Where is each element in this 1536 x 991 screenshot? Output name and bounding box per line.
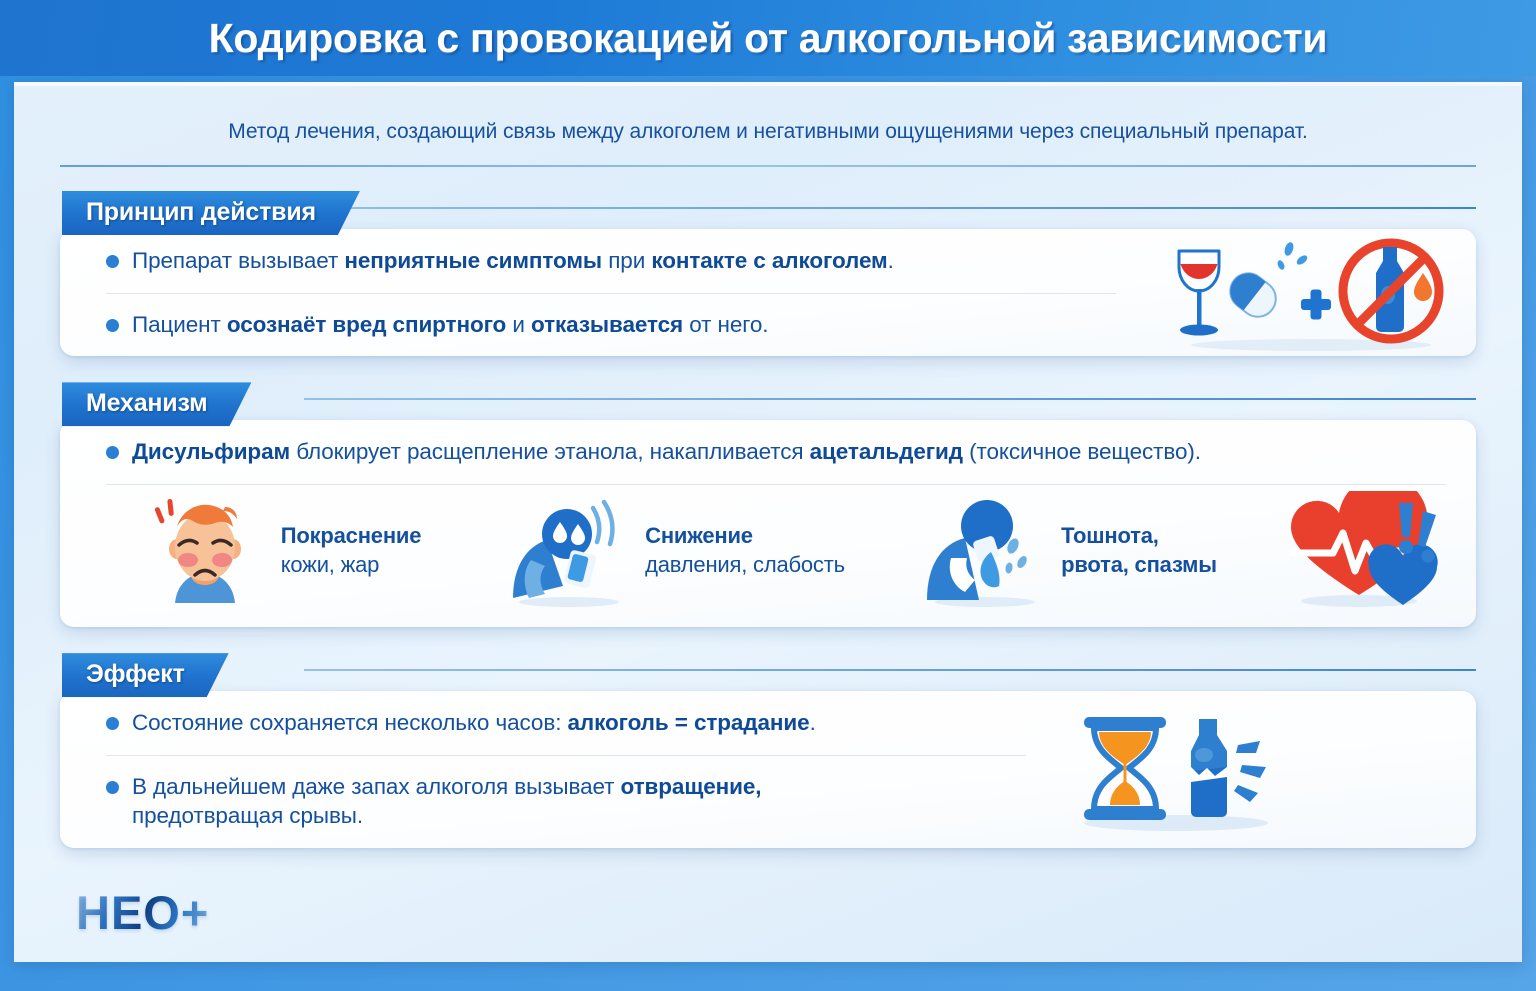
bullet-dot-icon <box>106 446 119 459</box>
text-run: (токсичное вещество). <box>963 439 1201 464</box>
symptom-item: Тошнота, рвота, спазмы <box>874 492 1264 610</box>
list-item: Пациент осознаёт вред спиртного и отказы… <box>60 293 1146 357</box>
symptom-list: Покраснение кожи, жар <box>60 485 1476 627</box>
text-run-bold: ацетальдегид <box>810 439 963 464</box>
bullet-dot-icon <box>106 717 119 730</box>
section-card-effect: Состояние сохраняется несколько часов: а… <box>60 691 1476 848</box>
symptom-item: Снижение давления, слабость <box>480 492 870 610</box>
text-run: Препарат вызывает <box>132 248 344 273</box>
effect-bullet-list: Состояние сохраняется несколько часов: а… <box>60 691 1056 848</box>
symptom-line-2: кожи, жар <box>281 551 422 580</box>
symptom-label: Покраснение кожи, жар <box>281 522 422 579</box>
pill-capsule-icon <box>1223 266 1283 324</box>
flushed-face-icon <box>141 491 269 611</box>
alcohol-pill-prohibition-illustration <box>1161 233 1461 353</box>
section-mechanism: Механизм Дисульфирам блокирует расщеплен… <box>14 382 1522 627</box>
sparkle-icon <box>1276 241 1309 271</box>
bullet-dot-icon <box>106 255 119 268</box>
symptom-label: Снижение давления, слабость <box>645 522 845 579</box>
symptom-line-2: давления, слабость <box>645 551 845 580</box>
symptom-line-1: Тошнота, <box>1061 522 1217 551</box>
principle-illustration <box>1146 229 1476 356</box>
text-run: при <box>602 248 651 273</box>
text-run: . <box>888 248 894 273</box>
symptom-line-2: рвота, спазмы <box>1061 551 1217 580</box>
principle-bullet-list: Препарат вызывает неприятные симптомы пр… <box>60 229 1146 356</box>
symptom-line-1: Снижение <box>645 522 845 551</box>
wine-glass-icon <box>1179 251 1219 336</box>
text-run: В дальнейшем даже запах алкоголя вызывае… <box>132 774 621 799</box>
broken-bottle-icon <box>1191 719 1227 817</box>
text-run-bold: отказывается <box>531 312 683 337</box>
symptom-item: Покраснение кожи, жар <box>86 491 476 611</box>
section-top-rule <box>304 207 1476 209</box>
brand-logo-text: НЕО+ <box>76 885 209 940</box>
text-run: и <box>506 312 531 337</box>
brand-logo: НЕО+ <box>76 885 209 940</box>
bullet-dot-icon <box>106 781 119 794</box>
list-item: Состояние сохраняется несколько часов: а… <box>60 691 1056 755</box>
text-run: от него. <box>683 312 768 337</box>
symptom-item <box>1268 491 1458 611</box>
hourglass-icon <box>1084 717 1166 820</box>
section-tab-mechanism[interactable]: Механизм <box>62 382 251 426</box>
list-item: Препарат вызывает неприятные симптомы пр… <box>60 229 1146 293</box>
section-effect: Эффект Состояние сохраняется несколько ч… <box>14 653 1522 848</box>
text-run-bold: контакте с алкоголем <box>651 248 887 273</box>
page-header: Кодировка с провокацией от алкогольной з… <box>0 0 1536 76</box>
intro-divider <box>60 165 1476 167</box>
text-run-bold: осознаёт вред спиртного <box>227 312 506 337</box>
bullet-dot-icon <box>106 319 119 332</box>
section-principle: Принцип действия Препарат вызывает непри… <box>14 191 1522 356</box>
text-run-bold: алкоголь = страдание <box>568 710 810 735</box>
bullet-text: Пациент осознаёт вред спиртного и отказы… <box>132 310 768 340</box>
text-run: блокирует расщепление этанола, накаплива… <box>290 439 810 464</box>
text-run-bold: отвращение, <box>621 774 762 799</box>
bullet-text: В дальнейшем даже запах алкоголя вызывае… <box>132 772 761 831</box>
text-run-bold: неприятные симптомы <box>344 248 602 273</box>
heartbeat-alert-icon <box>1281 491 1446 611</box>
section-card-principle: Препарат вызывает неприятные симптомы пр… <box>60 229 1476 356</box>
text-run: . <box>810 710 816 735</box>
symptom-line-1: Покраснение <box>281 522 422 551</box>
no-alcohol-icon <box>1343 243 1439 339</box>
bullet-text: Состояние сохраняется несколько часов: а… <box>132 708 816 738</box>
list-item: Дисульфирам блокирует расщепление этанол… <box>60 420 1476 484</box>
content-panel: Метод лечения, создающий связь между алк… <box>14 82 1522 962</box>
text-run: предотвращая срывы. <box>132 803 363 828</box>
bullet-text: Дисульфирам блокирует расщепление этанол… <box>132 437 1201 467</box>
effect-illustration <box>1056 691 1476 848</box>
hourglass-broken-bottle-illustration <box>1066 705 1296 835</box>
intro-text: Метод лечения, создающий связь между алк… <box>60 120 1476 144</box>
bullet-text: Препарат вызывает неприятные симптомы пр… <box>132 246 894 276</box>
text-run: Состояние сохраняется несколько часов: <box>132 710 568 735</box>
page-title: Кодировка с провокацией от алкогольной з… <box>209 15 1328 62</box>
symptom-label: Тошнота, рвота, спазмы <box>1061 522 1217 579</box>
section-top-rule <box>304 398 1476 400</box>
impact-lines-icon <box>1234 741 1266 802</box>
section-tab-effect[interactable]: Эффект <box>62 653 229 697</box>
section-top-rule <box>304 669 1476 671</box>
vomiting-person-icon <box>921 492 1049 610</box>
text-run: Пациент <box>132 312 227 337</box>
section-tab-principle[interactable]: Принцип действия <box>62 191 360 235</box>
dizzy-person-icon <box>505 492 633 610</box>
text-run-bold: Дисульфирам <box>132 439 290 464</box>
section-card-mechanism: Дисульфирам блокирует расщепление этанол… <box>60 420 1476 627</box>
list-item: В дальнейшем даже запах алкоголя вызывае… <box>60 755 1056 848</box>
plus-icon <box>1301 289 1331 319</box>
